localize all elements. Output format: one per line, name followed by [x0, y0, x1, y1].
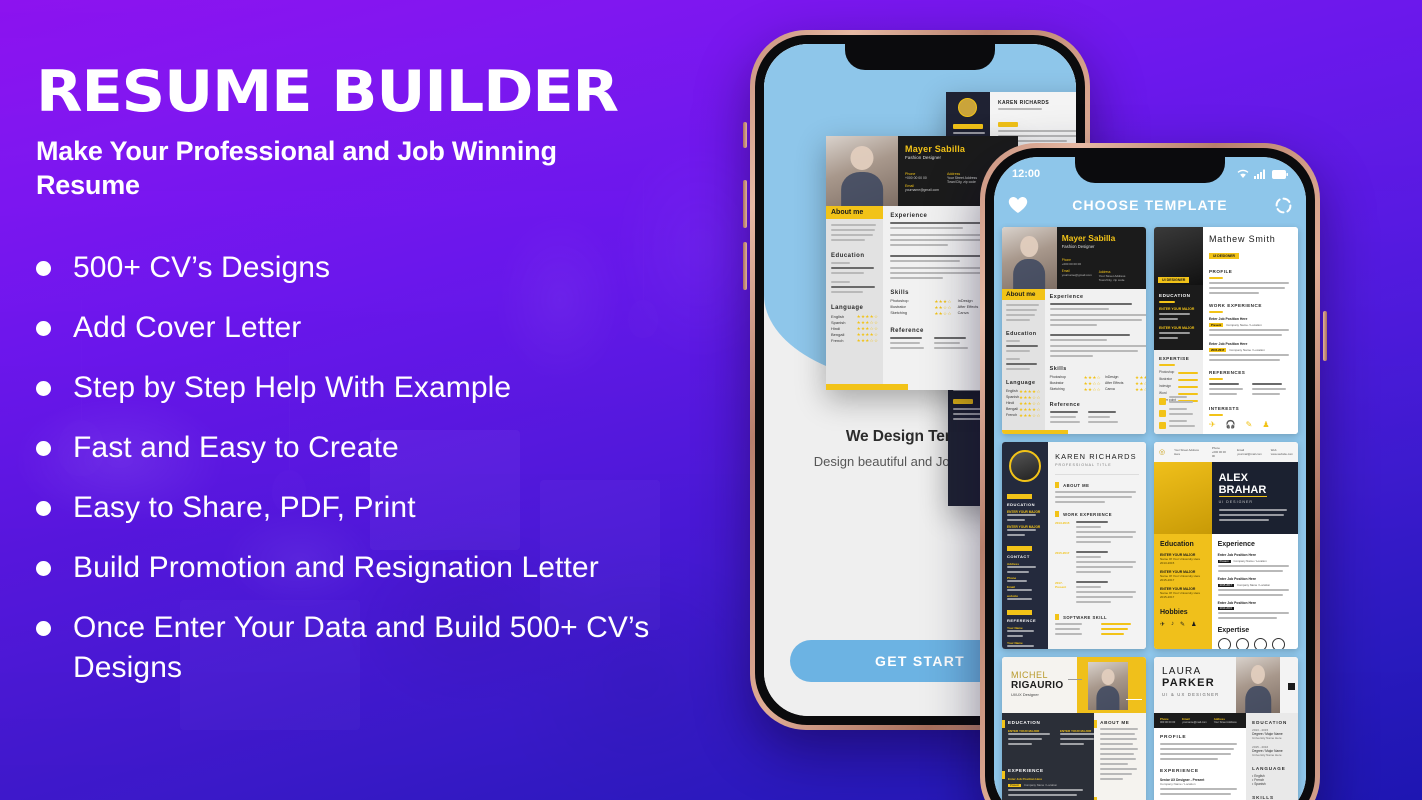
- language-item: Spanish: [1254, 782, 1266, 786]
- list-item: Fast and Easy to Create: [36, 428, 716, 468]
- writing-icon: ✎: [1246, 420, 1253, 429]
- wifi-icon: [1237, 169, 1249, 179]
- section-heading: Experience: [1050, 294, 1146, 300]
- section-heading: EXPERIENCE: [1008, 768, 1088, 773]
- resume-portrait: [826, 136, 898, 206]
- feature-text: Easy to Share, PDF, Print: [73, 488, 416, 528]
- feature-list: 500+ CV’s Designs Add Cover Letter Step …: [36, 248, 716, 688]
- phone-mockup-choose-template: 12:00 CHOOSE TEMPLATE M: [980, 143, 1320, 800]
- section-heading: Expertise: [1218, 627, 1292, 634]
- section-heading: Language: [1006, 380, 1041, 386]
- travel-icon: ✈: [1160, 621, 1165, 628]
- app-toolbar: CHOOSE TEMPLATE: [994, 191, 1306, 219]
- feature-text: Build Promotion and Resignation Letter: [73, 548, 599, 588]
- section-heading: PROFILE: [1209, 269, 1292, 274]
- phone-volume-up-button[interactable]: [743, 180, 747, 228]
- page-title: RESUME BUILDER: [36, 62, 757, 122]
- section-heading: EDUCATION: [1159, 293, 1198, 298]
- template-role: Fashion Designer: [1062, 244, 1141, 249]
- phone2-screen: 12:00 CHOOSE TEMPLATE M: [994, 157, 1306, 800]
- phone-power-button[interactable]: [1323, 311, 1327, 361]
- template-card-mayer-sabilla[interactable]: Mayer Sabilla Fashion Designer Phone+000…: [1002, 227, 1146, 434]
- section-heading: ABOUT ME: [1100, 720, 1140, 725]
- bullet-dot-icon: [36, 381, 51, 396]
- music-icon: 🎧: [1226, 420, 1236, 429]
- section-heading: Education: [1160, 541, 1206, 548]
- bullet-dot-icon: [36, 261, 51, 276]
- template-card-laura-parker[interactable]: LAURA PARKER UI & UX DESIGNER Phone000 0…: [1154, 657, 1298, 800]
- section-heading: Education: [1006, 331, 1041, 337]
- template-portrait: [1088, 662, 1128, 710]
- status-time: 12:00: [1012, 168, 1040, 180]
- template-grid: Mayer Sabilla Fashion Designer Phone+000…: [994, 219, 1306, 800]
- section-heading: SKILLS: [1252, 795, 1292, 800]
- section-heading: SOFTWARE SKILL: [1063, 615, 1107, 620]
- about-me-label: About me: [826, 206, 883, 219]
- template-role-badge: UI DESIGNER: [1158, 277, 1189, 283]
- section-heading: EDUCATION: [1008, 720, 1088, 725]
- phone-notch: [845, 44, 995, 70]
- section-heading: CONTACT: [1007, 554, 1043, 559]
- phone-volume-down-button[interactable]: [743, 242, 747, 290]
- template-card-mathew-smith[interactable]: UI DESIGNER EDUCATION ENTER YOUR MAJOR E…: [1154, 227, 1298, 434]
- template-name: Mathew Smith: [1209, 234, 1292, 244]
- section-heading: EDUCATION: [1007, 502, 1043, 507]
- feature-text: Fast and Easy to Create: [73, 428, 399, 468]
- chess-icon: ♟: [1262, 420, 1269, 429]
- template-card-michel-rigaurio[interactable]: MICHEL RIGAURIO UI/UX Designer EDUCATION: [1002, 657, 1146, 800]
- section-heading: Skills: [1050, 366, 1146, 372]
- template-card-karen-richards[interactable]: EDUCATION ENTER YOUR MAJOR ENTER YOUR MA…: [1002, 442, 1146, 649]
- chess-icon: ♟: [1191, 621, 1196, 628]
- list-item: Easy to Share, PDF, Print: [36, 488, 716, 528]
- section-heading: LANGUAGE: [1252, 766, 1292, 771]
- section-heading: EXPERIENCE: [1160, 769, 1240, 774]
- section-heading: Experience: [1218, 541, 1292, 548]
- template-role: UI/UX Designer: [1011, 692, 1063, 697]
- template-name: KAREN RICHARDS: [1055, 452, 1139, 461]
- template-name-first: ALEX: [1219, 473, 1291, 484]
- template-role: UI DESIGNER: [1209, 253, 1239, 259]
- bullet-dot-icon: [36, 561, 51, 576]
- section-heading: Reference: [1050, 402, 1146, 408]
- section-heading: REFERENCE: [1007, 618, 1043, 623]
- list-item: Build Promotion and Resignation Letter: [36, 548, 716, 588]
- template-portrait: [1002, 227, 1057, 289]
- bullet-dot-icon: [36, 621, 51, 636]
- template-name-first: MICHEL: [1011, 670, 1063, 680]
- about-me-label: About me: [1002, 289, 1045, 300]
- list-item: Add Cover Letter: [36, 308, 716, 348]
- section-heading: WORK EXPERIENCE: [1063, 512, 1112, 517]
- bullet-dot-icon: [36, 321, 51, 336]
- template-card-alex-brahar[interactable]: ◎ Your Street Address Here Phone+000 00 …: [1154, 442, 1298, 649]
- section-heading: EXPERTISE: [1159, 356, 1198, 361]
- hero-copy: RESUME BUILDER Make Your Professional an…: [36, 62, 716, 708]
- feature-text: Step by Step Help With Example: [73, 368, 511, 408]
- template-name-last: RIGAURIO: [1011, 680, 1063, 691]
- template-role: PROFESSIONAL TITLE: [1055, 463, 1139, 467]
- music-icon: ♪: [1171, 621, 1174, 628]
- list-item: Once Enter Your Data and Build 500+ CV’s…: [36, 608, 716, 688]
- template-portrait: [1009, 450, 1041, 482]
- section-heading: REFERENCES: [1209, 370, 1292, 375]
- feature-text: Add Cover Letter: [73, 308, 301, 348]
- bullet-dot-icon: [36, 441, 51, 456]
- page-subtitle: Make Your Professional and Job Winning R…: [36, 134, 656, 202]
- section-heading: WORK EXPERIENCE: [1209, 303, 1292, 308]
- app-title: CHOOSE TEMPLATE: [994, 197, 1306, 213]
- template-portrait: [1236, 657, 1280, 713]
- section-heading: Hobbies: [1160, 609, 1206, 616]
- list-item: Step by Step Help With Example: [36, 368, 716, 408]
- feature-text: Once Enter Your Data and Build 500+ CV’s…: [73, 608, 663, 688]
- template-name-last: BRAHAR: [1219, 484, 1267, 497]
- section-heading: INTERESTS: [1209, 406, 1292, 411]
- language-heading: Language: [831, 305, 878, 311]
- signal-icon: [1254, 169, 1267, 179]
- education-heading: Education: [831, 253, 878, 259]
- status-bar: 12:00: [994, 166, 1306, 182]
- pin-icon: ◎: [1159, 448, 1165, 456]
- travel-icon: ✈: [1209, 420, 1216, 429]
- feature-text: 500+ CV’s Designs: [73, 248, 330, 288]
- battery-icon: [1272, 170, 1288, 179]
- phone-bezel-2: 12:00 CHOOSE TEMPLATE M: [985, 148, 1315, 800]
- resume-name: Mayer Sabilla: [905, 144, 1011, 154]
- template-name: Mayer Sabilla: [1062, 233, 1141, 243]
- writing-icon: ✎: [1180, 621, 1185, 628]
- template-portrait: [1154, 462, 1212, 534]
- template-role: UI DESIGNER: [1219, 500, 1291, 504]
- section-heading: ABOUT ME: [1063, 483, 1089, 488]
- list-item: 500+ CV’s Designs: [36, 248, 716, 288]
- phone-mute-button[interactable]: [743, 122, 747, 148]
- section-heading: EDUCATION: [1252, 720, 1292, 725]
- bullet-dot-icon: [36, 501, 51, 516]
- onboarding-subtext-line1: Design beautiful and Job: [814, 454, 957, 469]
- section-heading: PROFILE: [1160, 735, 1240, 740]
